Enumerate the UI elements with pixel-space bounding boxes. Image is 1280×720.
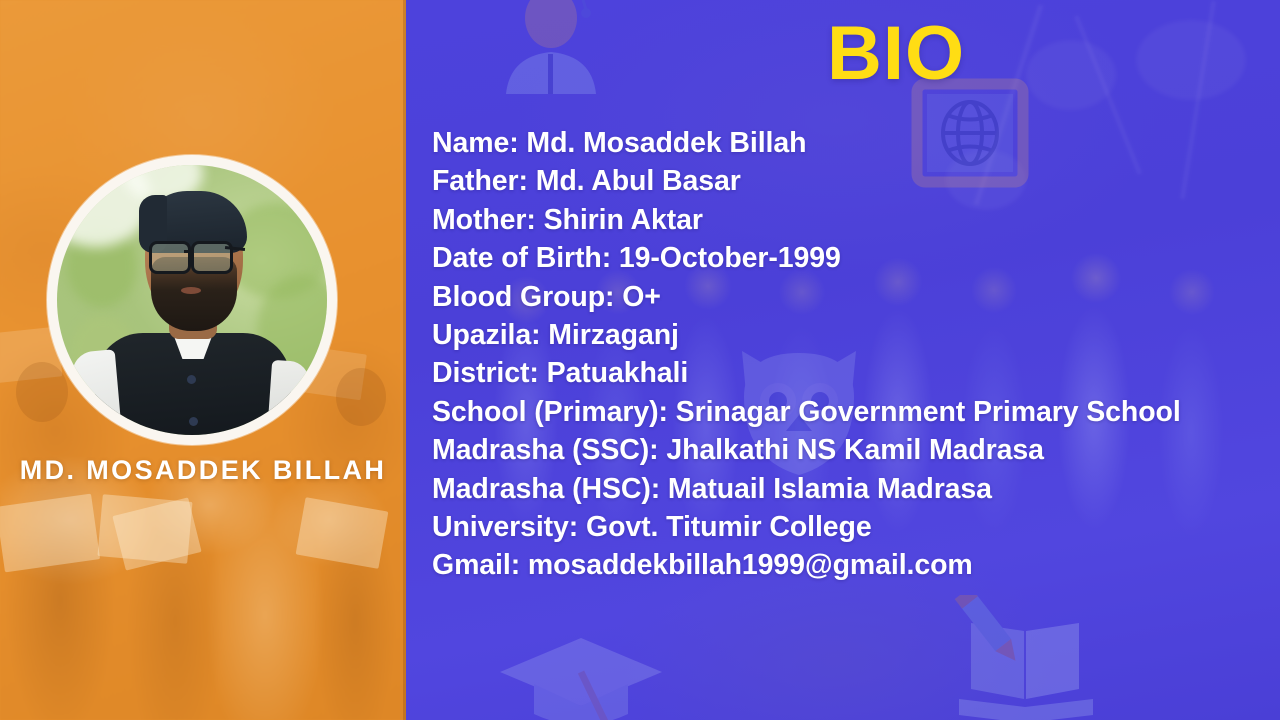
certificate-shape	[0, 494, 100, 573]
left-profile-panel: MD. MOSADDEK BILLAH	[0, 0, 406, 720]
bio-line-date-of-birth: Date of Birth: 19-October-1999	[432, 239, 1252, 277]
profile-name-caption: MD. MOSADDEK BILLAH	[0, 455, 406, 486]
tree-leaves	[1026, 40, 1116, 110]
tree-leaves	[1136, 20, 1246, 100]
bio-line-father: Father: Md. Abul Basar	[432, 162, 1252, 200]
graduation-cap-icon	[496, 632, 666, 720]
portrait-shirt-left	[71, 349, 124, 435]
bio-line-blood-group: Blood Group: O+	[432, 278, 1252, 316]
portrait-glasses-bridge	[184, 250, 193, 253]
student-graduate-icon	[476, 0, 626, 127]
bio-details-list: Name: Md. Mosaddek Billah Father: Md. Ab…	[432, 124, 1252, 585]
bio-line-school-primary: School (Primary): Srinagar Government Pr…	[432, 393, 1252, 431]
background-person-face	[336, 368, 386, 426]
bio-line-mother: Mother: Shirin Aktar	[432, 201, 1252, 239]
portrait-glasses-left-lens	[149, 241, 191, 274]
bio-slide: MD. MOSADDEK BILLAH	[0, 0, 1280, 720]
bio-line-university: University: Govt. Titumir College	[432, 508, 1252, 546]
portrait-button	[189, 417, 198, 426]
avatar	[57, 165, 327, 435]
portrait-lip	[181, 287, 201, 294]
bio-line-madrasha-ssc: Madrasha (SSC): Jhalkathi NS Kamil Madra…	[432, 431, 1252, 469]
bio-line-name: Name: Md. Mosaddek Billah	[432, 124, 1252, 162]
bio-line-district: District: Patuakhali	[432, 354, 1252, 392]
bio-line-upazila: Upazila: Mirzaganj	[432, 316, 1252, 354]
open-book-pencil-icon	[951, 595, 1101, 720]
bio-line-madrasha-hsc: Madrasha (HSC): Matuail Islamia Madrasa	[432, 470, 1252, 508]
bio-line-gmail: Gmail: mosaddekbillah1999@gmail.com	[432, 546, 1252, 584]
page-title: BIO	[827, 16, 965, 92]
background-person-face	[16, 362, 68, 422]
portrait-button	[187, 375, 196, 384]
bio-content-panel: BIO Name: Md. Mosaddek Billah Father: Md…	[406, 0, 1280, 720]
portrait-shirt-right	[266, 360, 310, 435]
profile-photo-frame	[47, 155, 337, 445]
